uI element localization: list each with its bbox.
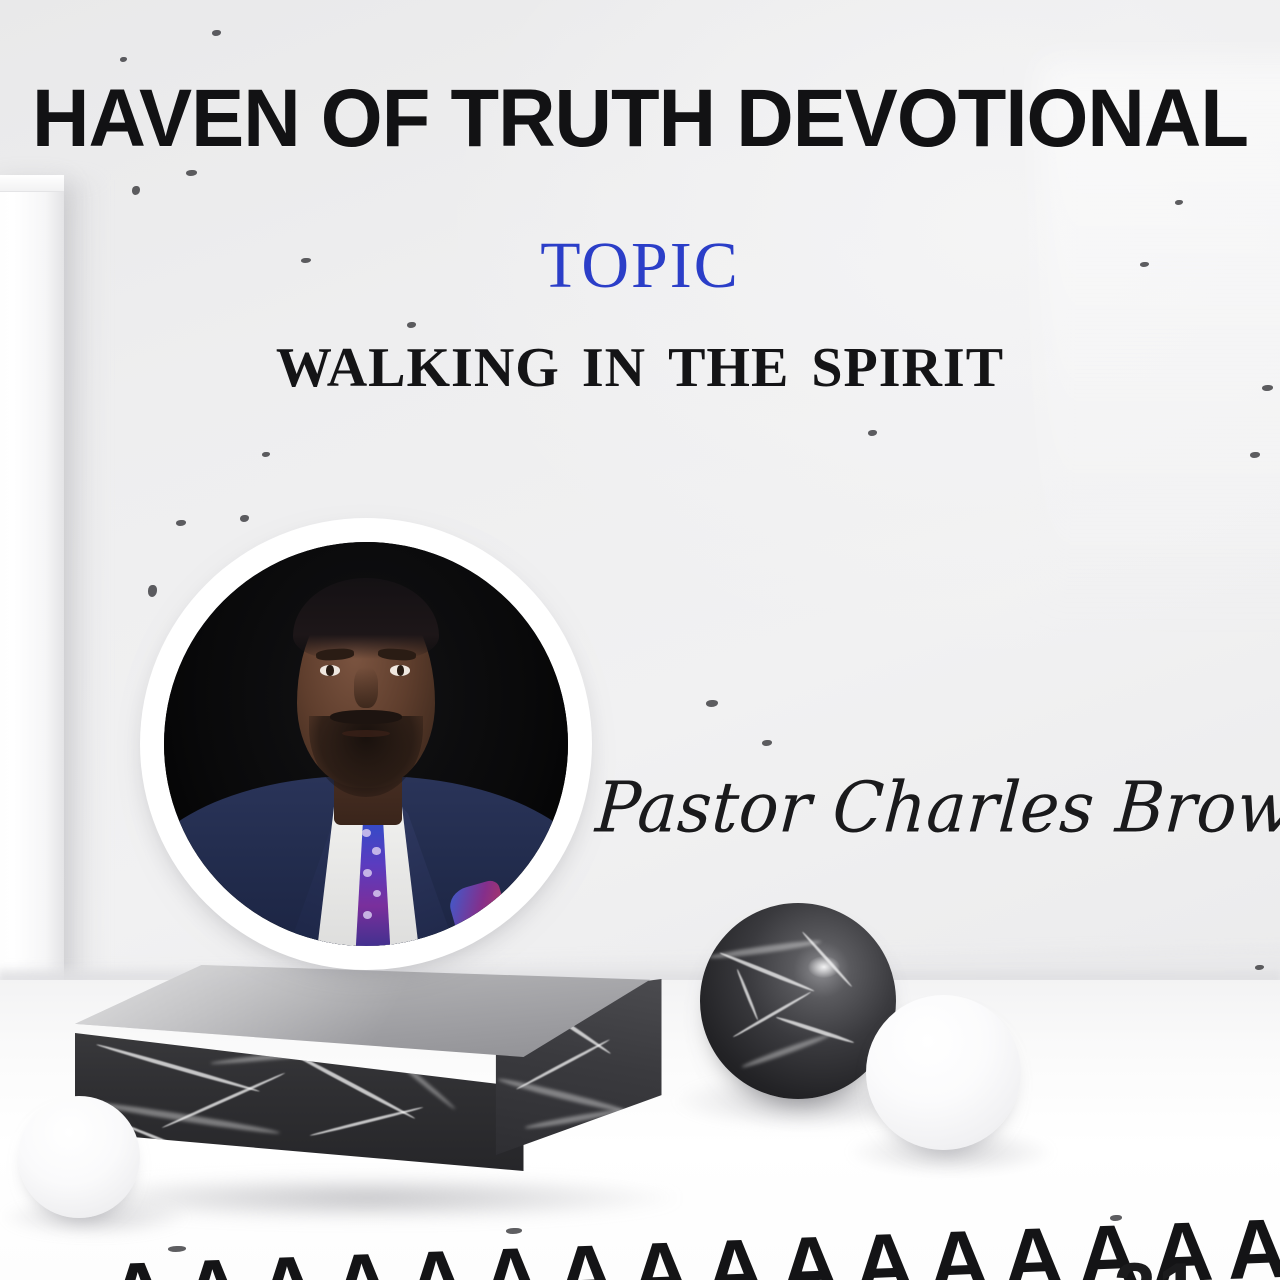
speaker-portrait-frame bbox=[140, 518, 592, 970]
marble-pedestal bbox=[75, 965, 650, 1200]
speck bbox=[868, 430, 877, 436]
bottom-strip-text: AAAAAAAAAAAAAAAAAAA bbox=[106, 1206, 1280, 1280]
speck bbox=[176, 520, 186, 526]
subtitle-word: IN bbox=[582, 337, 646, 399]
speck bbox=[212, 30, 221, 36]
bottom-cropped-text-band: AAAAAAAAAAAAAAAAAAA 21 bbox=[0, 1206, 1280, 1280]
speck bbox=[262, 452, 270, 457]
speck bbox=[240, 515, 249, 522]
speck bbox=[186, 170, 197, 176]
white-sphere-large bbox=[866, 995, 1021, 1150]
speaker-portrait-photo bbox=[164, 542, 568, 946]
subtitle-word: WALKING bbox=[276, 337, 560, 399]
devotional-flyer: HAVEN OF TRUTH DEVOTIONAL TOPIC WALKINGI… bbox=[0, 0, 1280, 1280]
subtitle-word: THE bbox=[668, 337, 789, 399]
speck bbox=[132, 186, 140, 195]
topic-subtitle: WALKINGINTHESPIRIT bbox=[0, 340, 1280, 396]
subtitle-word: SPIRIT bbox=[811, 337, 1004, 399]
topic-label: TOPIC bbox=[0, 233, 1280, 299]
speck bbox=[762, 740, 772, 746]
speck bbox=[148, 585, 157, 597]
white-sphere-small bbox=[18, 1096, 140, 1218]
bottom-strip-number: 21 bbox=[1113, 1247, 1202, 1280]
speck bbox=[120, 57, 127, 62]
speck bbox=[706, 700, 718, 707]
page-title: HAVEN OF TRUTH DEVOTIONAL bbox=[19, 78, 1261, 160]
speaker-name: Pastor Charles Brown bbox=[593, 770, 1258, 846]
speck bbox=[407, 322, 416, 328]
sphere-highlight bbox=[808, 956, 840, 978]
